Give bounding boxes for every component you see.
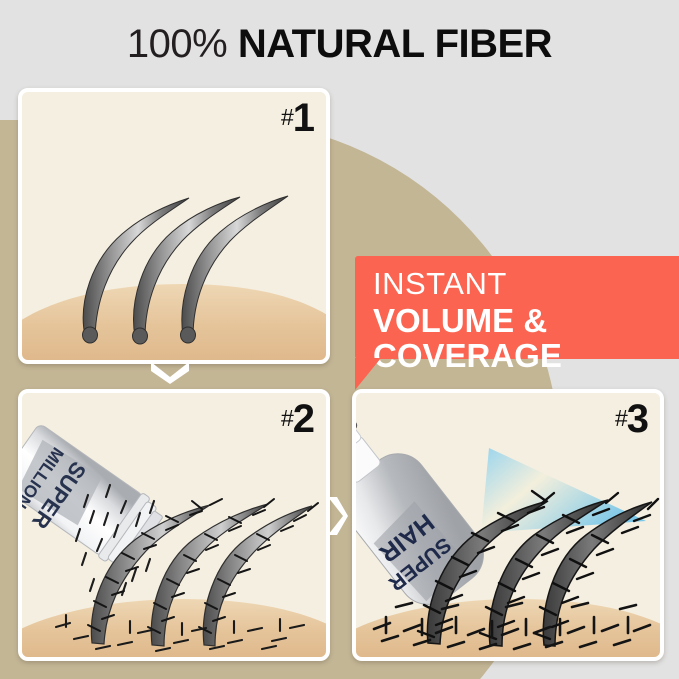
promo-banner-text: INSTANT VOLUME & COVERAGE	[373, 268, 679, 374]
panel-2-digit: 2	[293, 397, 314, 441]
chevron-right-icon	[326, 494, 348, 538]
panel-1-number: #1	[281, 98, 314, 138]
panel-3-hash: #	[615, 405, 627, 431]
title-light-part: 100%	[127, 22, 227, 66]
infographic-canvas: 100% NATURAL FIBER	[0, 0, 679, 679]
step-panel-3: SUPER HAIR	[352, 389, 664, 661]
promo-banner: INSTANT VOLUME & COVERAGE	[355, 256, 679, 359]
promo-banner-tail	[355, 358, 381, 390]
promo-banner-line2: VOLUME & COVERAGE	[373, 304, 679, 374]
panel-1-digit: 1	[293, 96, 314, 140]
chevron-down-icon	[148, 360, 192, 384]
panel-3-digit: 3	[627, 397, 648, 441]
step-panel-2: SUPER MILLION	[18, 389, 330, 661]
promo-banner-line1: INSTANT	[373, 268, 679, 301]
page-title: 100% NATURAL FIBER	[0, 22, 679, 67]
step-panel-1: #1	[18, 88, 330, 364]
panel-2-number: #2	[281, 399, 314, 439]
panel-3-number: #3	[615, 399, 648, 439]
panel-2-hash: #	[281, 405, 293, 431]
title-bold-part: NATURAL FIBER	[238, 22, 552, 66]
panel-1-hash: #	[281, 104, 293, 130]
